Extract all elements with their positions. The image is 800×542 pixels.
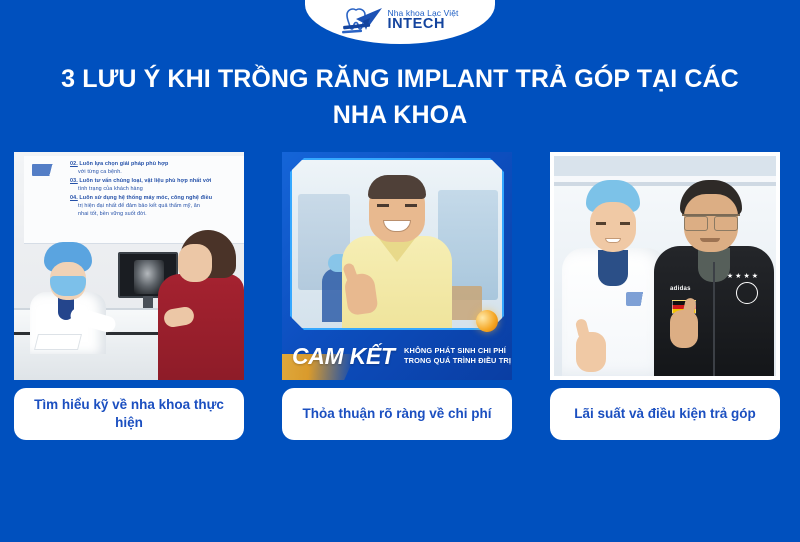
cards-row: 02. Luôn lựa chọn giải pháp phù hợp với …	[14, 152, 786, 440]
board-line-number: 02.	[70, 161, 78, 167]
board-line: với từng ca bệnh.	[70, 168, 244, 176]
commitment-headline: CAM KẾT	[292, 345, 395, 368]
patient-figure: ★★★★ adidas	[654, 180, 774, 376]
tech-photo-frame	[290, 158, 504, 330]
board-line: nhai tốt, bền vững suốt đời.	[70, 210, 244, 218]
card-1-photo: 02. Luôn lựa chọn giải pháp phù hợp với …	[14, 152, 244, 380]
board-line-text: Luôn tư vấn chủng loại, vật liệu phù hợp…	[79, 178, 211, 184]
commitment-subtext-line-1: KHÔNG PHÁT SINH CHI PHÍ	[404, 346, 511, 357]
board-line-text: trị hiện đại nhất để đảm bảo kết quả thẩ…	[78, 203, 200, 209]
brand-logo[interactable]: Nha khoa Lạc Việt INTECH	[341, 6, 458, 36]
card-2-photo: CAM KẾT KHÔNG PHÁT SINH CHI PHÍ TRONG QU…	[282, 152, 512, 380]
coat-logo-icon	[626, 292, 652, 306]
patient-hair	[368, 175, 426, 199]
card-3: ★★★★ adidas Lãi suất và điều kiện trả gó…	[550, 152, 780, 440]
patient-mouth	[700, 238, 720, 242]
team-crest-icon	[736, 282, 758, 304]
commitment-banner: CAM KẾT KHÔNG PHÁT SINH CHI PHÍ TRONG QU…	[282, 328, 512, 380]
patient-thumbs-up-icon	[670, 310, 698, 348]
patient-face	[178, 244, 212, 282]
logo-line-2: INTECH	[387, 17, 458, 32]
patient-figure	[158, 230, 242, 380]
patient-eyes	[377, 204, 417, 207]
board-line: 03. Luôn tư vấn chủng loại, vật liệu phù…	[70, 177, 244, 185]
jacket-stars: ★★★★	[727, 272, 760, 280]
doctor-thumbs-up-icon	[576, 332, 606, 372]
board-line: 04. Luôn sử dụng hệ thống máy móc, công …	[70, 194, 244, 202]
card-1: 02. Luôn lựa chọn giải pháp phù hợp với …	[14, 152, 244, 440]
board-line-number: 03.	[70, 178, 78, 184]
board-line: trị hiện đại nhất để đảm bảo kết quả thẩ…	[70, 202, 244, 210]
board-line: 02. Luôn lựa chọn giải pháp phù hợp	[70, 160, 244, 168]
board-line-number: 04.	[70, 195, 78, 201]
card-2: CAM KẾT KHÔNG PHÁT SINH CHI PHÍ TRONG QU…	[282, 152, 512, 440]
card-2-label: Thỏa thuận rõ ràng về chi phí	[282, 388, 512, 440]
page-title: 3 LƯU Ý KHI TRỒNG RĂNG IMPLANT TRẢ GÓP T…	[0, 62, 800, 133]
paper-on-desk	[34, 334, 82, 350]
dentist-mask-icon	[50, 276, 86, 296]
board-line-text: Luôn lựa chọn giải pháp phù hợp	[79, 161, 168, 167]
card-1-label: Tìm hiểu kỹ về nha khoa thực hiện	[14, 388, 244, 440]
doctor-eyes	[596, 222, 630, 225]
eyeglasses-icon	[682, 214, 740, 228]
tooth-logo-icon	[341, 6, 383, 36]
doctor-scrub-top	[598, 250, 628, 286]
smiling-patient-figure	[342, 178, 452, 328]
board-line-text: Luôn sử dụng hệ thống máy móc, công nghệ…	[79, 195, 212, 201]
commitment-subtext: KHÔNG PHÁT SINH CHI PHÍ TRONG QUÁ TRÌNH …	[404, 346, 511, 367]
commitment-subtext-line-2: TRONG QUÁ TRÌNH ĐIỀU TRỊ	[404, 356, 511, 367]
clinic-mini-logo-icon	[32, 164, 66, 176]
doctor-face	[590, 202, 636, 252]
card-3-label: Lãi suất và điều kiện trả góp	[550, 388, 780, 440]
board-text-block: 02. Luôn lựa chọn giải pháp phù hợp với …	[70, 160, 244, 219]
black-track-jacket: ★★★★ adidas	[654, 246, 774, 376]
jacket-zipper	[713, 262, 715, 376]
brand-label: adidas	[670, 286, 691, 292]
board-line: tình trạng của khách hàng	[70, 185, 244, 193]
board-line-text: nhai tốt, bền vững suốt đời.	[78, 211, 147, 217]
board-line-text: tình trạng của khách hàng	[78, 186, 143, 192]
header-banner: Nha khoa Lạc Việt INTECH	[305, 0, 495, 44]
doctor-figure	[562, 178, 668, 376]
board-line-text: với từng ca bệnh.	[78, 169, 122, 175]
doctor-smile	[605, 238, 621, 243]
card-3-photo: ★★★★ adidas	[550, 152, 780, 380]
